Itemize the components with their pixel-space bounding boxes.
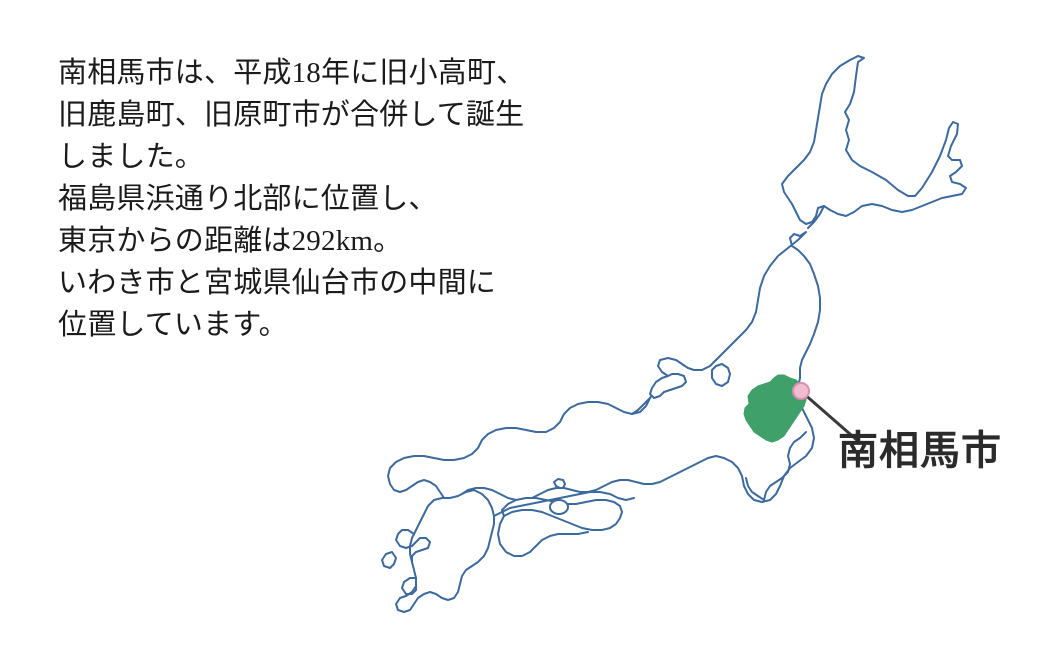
callout-label-minamisoma: 南相馬市 xyxy=(838,428,1002,474)
minamisoma-marker[interactable] xyxy=(793,383,809,399)
description-line: いわき市と宮城県仙台市の中間に xyxy=(58,262,618,304)
description-line: 東京からの距離は292km。 xyxy=(58,220,618,262)
hokkaido-outline xyxy=(782,56,966,224)
description-line: 位置しています。 xyxy=(58,304,618,346)
goto-islands xyxy=(382,552,396,568)
description-line: 旧鹿島町、旧原町市が合併して誕生 xyxy=(58,94,618,136)
awaji-island-outline xyxy=(550,500,568,514)
oki-islands xyxy=(554,479,565,488)
shimabara-peninsula xyxy=(402,578,416,594)
city-description: 南相馬市は、平成18年に旧小高町、 旧鹿島町、旧原町市が合併して誕生 しました。… xyxy=(58,52,618,346)
location-map-page: 南相馬市は、平成18年に旧小高町、 旧鹿島町、旧原町市が合併して誕生 しました。… xyxy=(0,0,1040,646)
description-line: しました。 xyxy=(58,136,618,178)
description-line: 南相馬市は、平成18年に旧小高町、 xyxy=(58,52,618,94)
sado-island-outline xyxy=(712,364,730,386)
description-line: 福島県浜通り北部に位置し、 xyxy=(58,178,618,220)
